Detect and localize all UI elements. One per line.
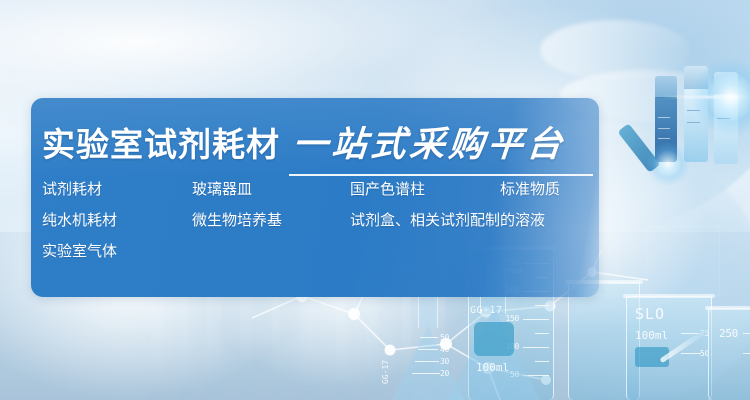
cryovial-left bbox=[655, 76, 677, 162]
category-item-reference-materials[interactable]: 标准物质 bbox=[500, 178, 560, 199]
category-item-glassware[interactable]: 玻璃器皿 bbox=[192, 178, 252, 199]
small-grad-50: 50 bbox=[440, 333, 449, 342]
category-item-laboratory-gases[interactable]: 实验室气体 bbox=[42, 240, 117, 261]
beaker-volume-label: 100ml bbox=[635, 329, 668, 342]
category-row-3: 实验室气体 bbox=[42, 240, 598, 271]
flask-logo-badge bbox=[474, 322, 514, 356]
category-item-microbial-culture-media[interactable]: 微生物培养基 bbox=[192, 209, 282, 230]
small-grad-20: 20 bbox=[440, 369, 449, 378]
title-row: 实验室试剂耗材 一站式采购平台 bbox=[42, 116, 566, 167]
title-accent-wrap: 一站式采购平台 bbox=[293, 116, 566, 167]
lab-supplies-banner: 250 APPROX 200 150 100 50 GG-17 100ml 50… bbox=[0, 0, 750, 400]
page-title-accent: 一站式采购平台 bbox=[291, 116, 568, 167]
category-item-reagent-kits-solutions[interactable]: 试剂盒、相关试剂配制的溶液 bbox=[350, 209, 545, 230]
category-row-1: 试剂耗材 玻璃器皿 国产色谱柱 标准物质 bbox=[42, 178, 598, 209]
beaker-far-right: 250 bbox=[708, 308, 750, 400]
category-item-reagent-consumables[interactable]: 试剂耗材 bbox=[42, 178, 102, 199]
small-grad-40: 40 bbox=[440, 345, 449, 354]
beaker-right: SLO 100ml 75 50 bbox=[626, 296, 712, 400]
small-flask-brand: GG-17 bbox=[381, 360, 390, 384]
page-title-main: 实验室试剂耗材 bbox=[42, 118, 280, 166]
promo-panel: 实验室试剂耗材 一站式采购平台 试剂耗材 玻璃器皿 国产色谱柱 标准物质 纯水机… bbox=[31, 98, 599, 297]
flask-volume-label: 100ml bbox=[476, 361, 509, 374]
title-underline bbox=[289, 174, 593, 176]
cryovial-right bbox=[714, 72, 738, 164]
category-row-2: 纯水机耗材 微生物培养基 试剂盒、相关试剂配制的溶液 bbox=[42, 209, 598, 240]
cryovial-middle bbox=[684, 66, 708, 162]
category-item-domestic-chromatography-column[interactable]: 国产色谱柱 bbox=[350, 178, 425, 199]
category-item-water-purifier-consumables[interactable]: 纯水机耗材 bbox=[42, 209, 117, 230]
category-list: 试剂耗材 玻璃器皿 国产色谱柱 标准物质 纯水机耗材 微生物培养基 试剂盒、相关… bbox=[42, 178, 598, 271]
beaker-slo-label: SLO bbox=[635, 305, 665, 323]
small-flask-left: 50 40 30 20 GG-17 bbox=[392, 294, 470, 400]
light-streak bbox=[660, 96, 750, 98]
small-grad-30: 30 bbox=[440, 357, 449, 366]
flask-brand-label: GG-17 bbox=[470, 305, 503, 316]
far-beaker-grad-250: 250 bbox=[719, 327, 738, 340]
